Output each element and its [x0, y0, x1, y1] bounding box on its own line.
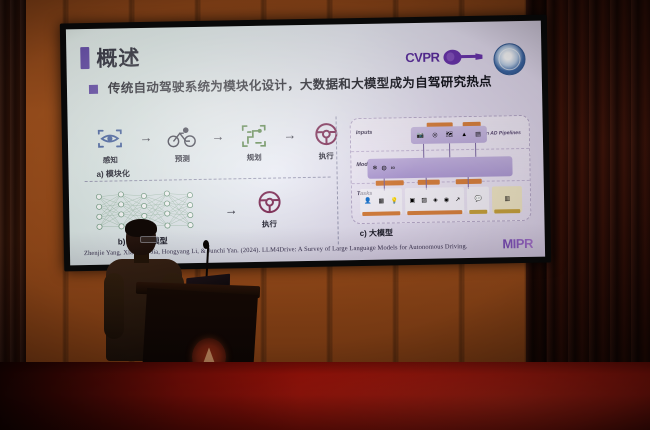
llm-pipeline-diagram: Inputs Model Tasks LLMs in AD Pipelines … — [350, 115, 532, 224]
mipr-logo: MIPR — [502, 236, 533, 252]
pipeline-node-perception: 感知 — [88, 124, 133, 166]
endtoend-output: 执行 — [247, 188, 292, 230]
data-icon: ▥ — [504, 196, 510, 202]
pipeline-label: 规划 — [247, 152, 262, 163]
glasses-icon — [140, 236, 158, 243]
bicycle-icon — [167, 123, 197, 151]
task-group: 👤 ▦ 💡 — [360, 188, 403, 215]
pipeline-node-planning: 规划 — [232, 122, 277, 164]
radar-icon: ▲ — [461, 132, 467, 138]
image-icon: ▨ — [421, 198, 427, 204]
task-band — [495, 209, 521, 213]
person-icon: 👤 — [364, 199, 372, 205]
pipeline-node-execution: 执行 — [304, 120, 349, 162]
chat-icon: 💬 — [475, 197, 483, 203]
car-icon: ▣ — [409, 198, 415, 204]
llama-icon: ∞ — [391, 165, 395, 171]
pipeline-nodes: 感知 → — [88, 120, 349, 166]
slide-title-row: 概述 — [80, 42, 141, 73]
arrow-icon: → — [208, 122, 228, 149]
maze-route-icon — [239, 122, 269, 150]
lidar-icon: ◎ — [432, 132, 437, 138]
task-group: 💬 — [467, 187, 490, 213]
page-title: 概述 — [96, 42, 141, 73]
floor-shadow — [0, 362, 300, 430]
university-seal-icon — [493, 43, 526, 76]
eye-scan-icon — [95, 124, 125, 152]
task-band — [408, 210, 463, 215]
presenter-arm-left — [104, 273, 124, 339]
title-marker-icon — [80, 47, 89, 69]
row-label-inputs: Inputs — [356, 130, 373, 136]
tasks-row: 👤 ▦ 💡 ▣ ▨ ◈ ◉ ↗ 💬 — [360, 186, 522, 215]
bullet-square-icon — [89, 85, 98, 94]
task-band — [362, 211, 400, 216]
slide-bullet-text: 传统自动驾驶系统为模块化设计，大数据和大模型成为自驾研究热点 — [108, 74, 492, 97]
pipeline-node-prediction: 预测 — [160, 123, 205, 165]
steering-wheel-icon — [254, 188, 284, 216]
connector-line — [475, 143, 476, 157]
pipeline-label: 预测 — [175, 153, 190, 164]
gpt-icon: ◍ — [381, 166, 386, 172]
presentation-photo-scene: 概述 传统自动驾驶系统为模块化设计，大数据和大模型成为自驾研究热点 CVPR — [0, 0, 650, 430]
slide-bullet: 传统自动驾驶系统为模块化设计，大数据和大模型成为自驾研究热点 — [89, 73, 519, 97]
left-curtain — [0, 0, 26, 400]
gauge-icon: ◉ — [444, 197, 449, 203]
presenter-hair — [125, 219, 157, 237]
arrow-icon: → — [221, 196, 241, 223]
arrow-icon: → — [280, 121, 300, 148]
task-group: ▣ ▨ ◈ ◉ ↗ — [405, 187, 464, 214]
model-box: ❄ ◍ ∞ — [367, 156, 512, 179]
llm-diagram-caption: c) 大模型 — [360, 227, 394, 239]
transformer-icon: ❄ — [372, 166, 377, 172]
bulb-icon: 💡 — [391, 198, 399, 204]
cvpr-logo: CVPR — [405, 48, 483, 66]
task-group: ▥ — [492, 186, 522, 213]
pipeline-label: 执行 — [319, 150, 334, 161]
diagram-band — [351, 148, 529, 152]
inputs-box: 📷 ◎ 🗺 ▲ ▤ — [411, 126, 487, 144]
text-icon: ▤ — [475, 131, 481, 137]
connector-line — [423, 144, 424, 158]
motion-icon: ↗ — [455, 197, 460, 203]
route-icon: ◈ — [433, 198, 438, 204]
task-tag — [418, 180, 440, 185]
camera-icon: 📷 — [417, 132, 425, 138]
chart-icon: ▦ — [378, 199, 384, 205]
task-band — [470, 210, 488, 214]
cvpr-label: CVPR — [405, 50, 439, 66]
task-tag — [376, 180, 404, 186]
pipeline-label: 感知 — [103, 154, 118, 165]
pipeline-caption: a) 模块化 — [96, 168, 130, 180]
gooseneck-microphone-icon — [203, 240, 209, 249]
arrow-icon: → — [136, 124, 156, 151]
violin-icon — [441, 48, 483, 66]
map-icon: 🗺 — [446, 132, 454, 138]
endtoend-output-label: 执行 — [262, 218, 277, 229]
connector-line — [449, 143, 450, 157]
